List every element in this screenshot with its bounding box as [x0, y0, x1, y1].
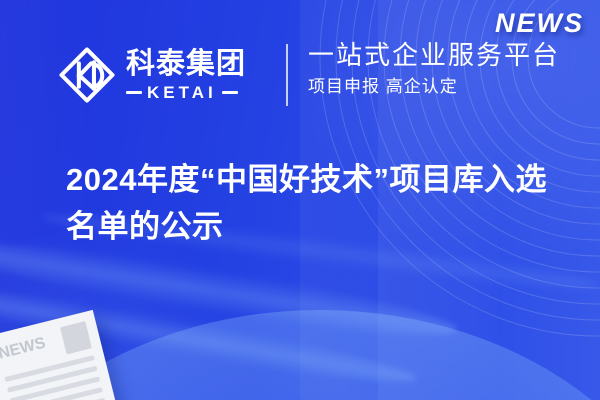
newspaper-thumbnail-block	[60, 321, 92, 354]
news-banner: 科泰集团 KETAI 一站式企业服务平台 项目申报 高企认定 NEWS 2024…	[0, 0, 600, 400]
tagline-main: 一站式企业服务平台	[308, 41, 560, 71]
brand-wordmark: 科泰集团 KETAI	[126, 50, 246, 101]
brand-name-en-row: KETAI	[126, 84, 246, 101]
newspaper-headline: NEWS	[0, 336, 47, 363]
tagline-sub: 项目申报 高企认定	[308, 77, 560, 97]
tagline-block: 一站式企业服务平台 项目申报 高企认定	[308, 41, 560, 97]
brand-header: 科泰集团 KETAI	[58, 40, 246, 110]
ketai-logo-icon	[58, 46, 116, 104]
brand-dash-left	[126, 91, 142, 94]
page-title: 2024年度“中国好技术”项目库入选名单的公示	[66, 156, 576, 250]
brand-name-en: KETAI	[147, 84, 217, 101]
news-badge-label: NEWS	[495, 8, 584, 39]
header-divider	[286, 44, 288, 106]
brand-dash-right	[222, 91, 238, 94]
brand-name-cn: 科泰集团	[126, 50, 246, 79]
